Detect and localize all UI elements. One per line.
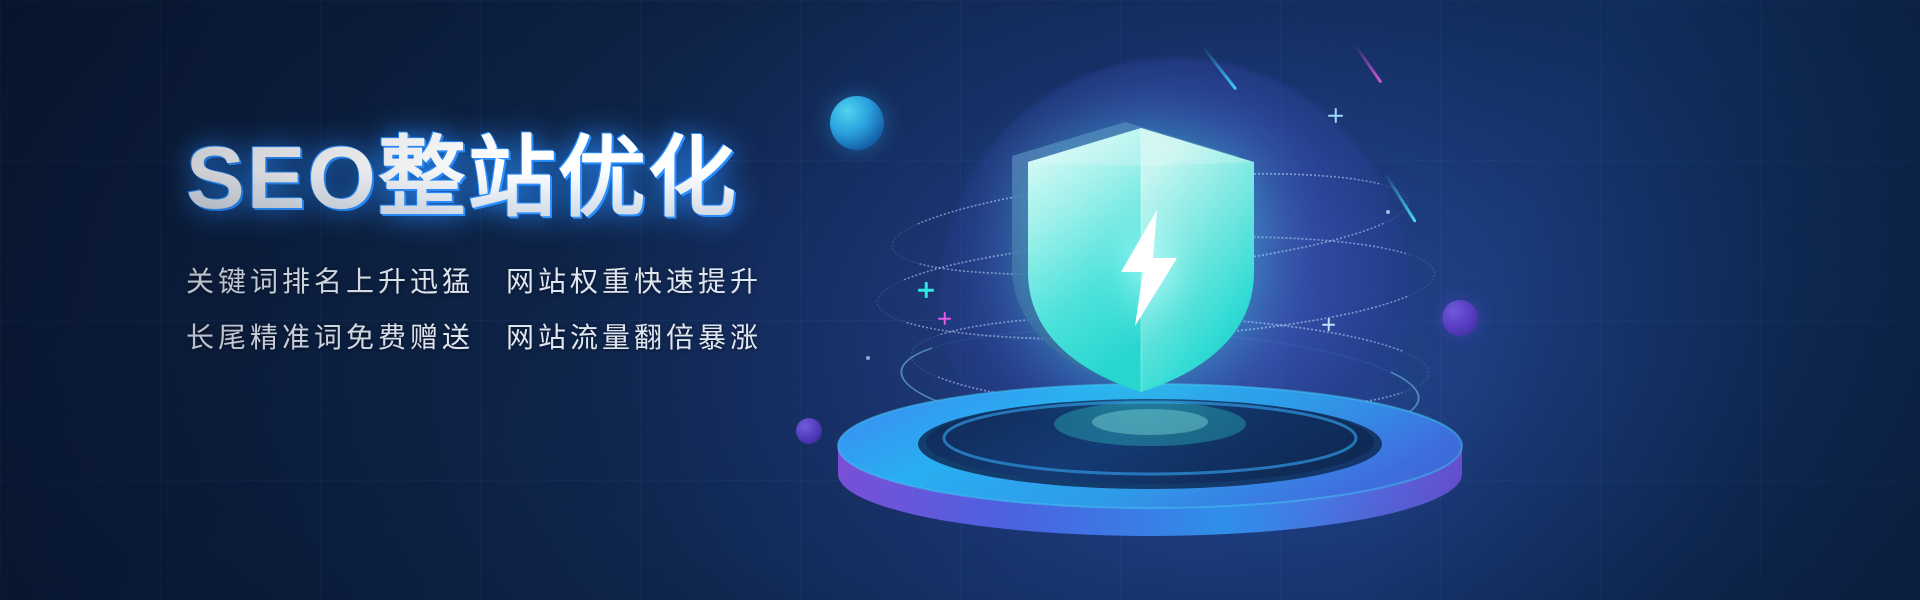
seo-promo-banner: SEO整站优化 关键词排名上升迅猛 网站权重快速提升 长尾精准词免费赠送 网站流… xyxy=(0,0,1920,600)
feature-item-1: 关键词排名上升迅猛 xyxy=(186,265,506,299)
feature-item-3: 长尾精准词免费赠送 xyxy=(186,321,506,355)
plus-spark-icon xyxy=(1328,108,1343,123)
banner-text-block: SEO整站优化 关键词排名上升迅猛 网站权重快速提升 长尾精准词免费赠送 网站流… xyxy=(186,130,826,354)
shield-group xyxy=(1016,122,1266,397)
sphere-icon xyxy=(830,96,884,150)
page-title: SEO整站优化 xyxy=(186,130,738,225)
sphere-small-icon xyxy=(796,418,822,444)
hero-illustration xyxy=(830,0,1530,600)
comet-icon xyxy=(1354,44,1383,83)
plus-spark-icon xyxy=(1322,318,1335,331)
feature-list: 关键词排名上升迅猛 网站权重快速提升 长尾精准词免费赠送 网站流量翻倍暴涨 xyxy=(186,265,826,354)
plus-spark-icon xyxy=(938,312,951,325)
feature-item-4: 网站流量翻倍暴涨 xyxy=(506,321,826,355)
plus-spark-icon xyxy=(918,282,934,298)
feature-item-2: 网站权重快速提升 xyxy=(506,265,826,299)
star-dot-icon xyxy=(1386,210,1390,214)
sphere-purple-icon xyxy=(1442,300,1478,336)
lightning-bolt-icon xyxy=(1113,208,1185,328)
